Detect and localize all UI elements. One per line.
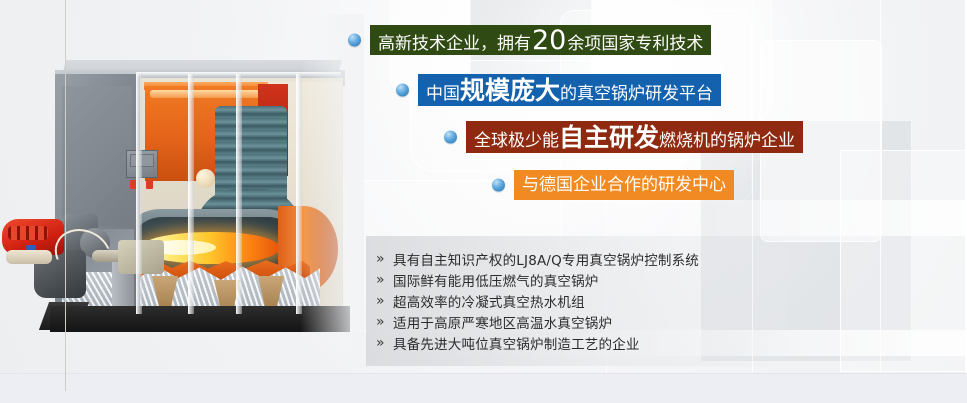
headline-banner-segment: 与德国企业合作的研发中心: [522, 177, 726, 194]
headline-banner-largest-rd-platform[interactable]: 中国规模庞大的真空锅炉研发平台: [418, 74, 721, 106]
headline-banner-segment: 规模庞大: [460, 78, 560, 103]
feature-list-item-label: 国际鲜有能用低压燃气的真空锅炉: [393, 270, 599, 290]
double-chevron-icon: »: [376, 272, 385, 288]
bottom-band: [0, 373, 967, 403]
headline-banner-segment: 的真空锅炉研发平台: [560, 86, 713, 103]
headline-banner-segment: 自主研发: [559, 125, 659, 150]
double-chevron-icon: »: [376, 251, 385, 267]
headline-banner-high-tech-enterprise[interactable]: 高新技术企业，拥有20余项国家专利技术: [370, 25, 711, 55]
double-chevron-icon: »: [376, 293, 385, 309]
bullet-dot-icon: [492, 179, 505, 192]
headline-banner-segment: 余项国家专利技术: [567, 36, 703, 53]
headline-banner-segment: 燃烧机的锅炉企业: [659, 133, 795, 150]
headline-banner-text: 与德国企业合作的研发中心: [514, 177, 734, 194]
bullet-dot-icon: [444, 131, 457, 144]
feature-list: »具有自主知识产权的LJ8A/Q专用真空锅炉控制系统»国际鲜有能用低压燃气的真空…: [366, 236, 786, 353]
double-chevron-icon: »: [376, 335, 385, 351]
feature-list-item[interactable]: »国际鲜有能用低压燃气的真空锅炉: [366, 269, 786, 290]
bullet-dot-icon: [396, 84, 409, 97]
headline-banner-segment: 20: [531, 27, 567, 54]
feature-list-item-label: 适用于高原严寒地区高温水真空锅炉: [393, 312, 612, 332]
vertical-divider: [65, 0, 66, 391]
feature-list-item-label: 具备先进大吨位真空锅炉制造工艺的企业: [393, 333, 640, 353]
double-chevron-icon: »: [376, 314, 385, 330]
feature-list-item-label: 超高效率的冷凝式真空热水机组: [393, 291, 585, 311]
feature-list-panel: »具有自主知识产权的LJ8A/Q专用真空锅炉控制系统»国际鲜有能用低压燃气的真空…: [366, 236, 786, 366]
headline-banner-segment: 全球极少能: [474, 133, 559, 150]
vacuum-boiler-image: [0, 14, 352, 356]
headline-banner-text: 高新技术企业，拥有20余项国家专利技术: [370, 27, 711, 54]
headline-banner-text: 中国规模庞大的真空锅炉研发平台: [418, 78, 721, 103]
feature-list-item[interactable]: »适用于高原严寒地区高温水真空锅炉: [366, 311, 786, 332]
feature-list-item[interactable]: »具备先进大吨位真空锅炉制造工艺的企业: [366, 332, 786, 353]
promo-banner-stage: 高新技术企业，拥有20余项国家专利技术 中国规模庞大的真空锅炉研发平台 全球极少…: [0, 0, 967, 403]
headline-banner-segment: 高新技术企业，拥有: [378, 36, 531, 53]
feature-list-item[interactable]: »超高效率的冷凝式真空热水机组: [366, 290, 786, 311]
headline-banner-text: 全球极少能自主研发燃烧机的锅炉企业: [466, 125, 803, 150]
headline-banner-self-developed-burner[interactable]: 全球极少能自主研发燃烧机的锅炉企业: [466, 121, 803, 153]
feature-list-item-label: 具有自主知识产权的LJ8A/Q专用真空锅炉控制系统: [393, 249, 699, 269]
headline-banner-german-rd-center[interactable]: 与德国企业合作的研发中心: [514, 170, 734, 200]
bullet-dot-icon: [348, 34, 361, 47]
headline-banner-segment: 中国: [426, 86, 460, 103]
feature-list-item[interactable]: »具有自主知识产权的LJ8A/Q专用真空锅炉控制系统: [366, 248, 786, 269]
